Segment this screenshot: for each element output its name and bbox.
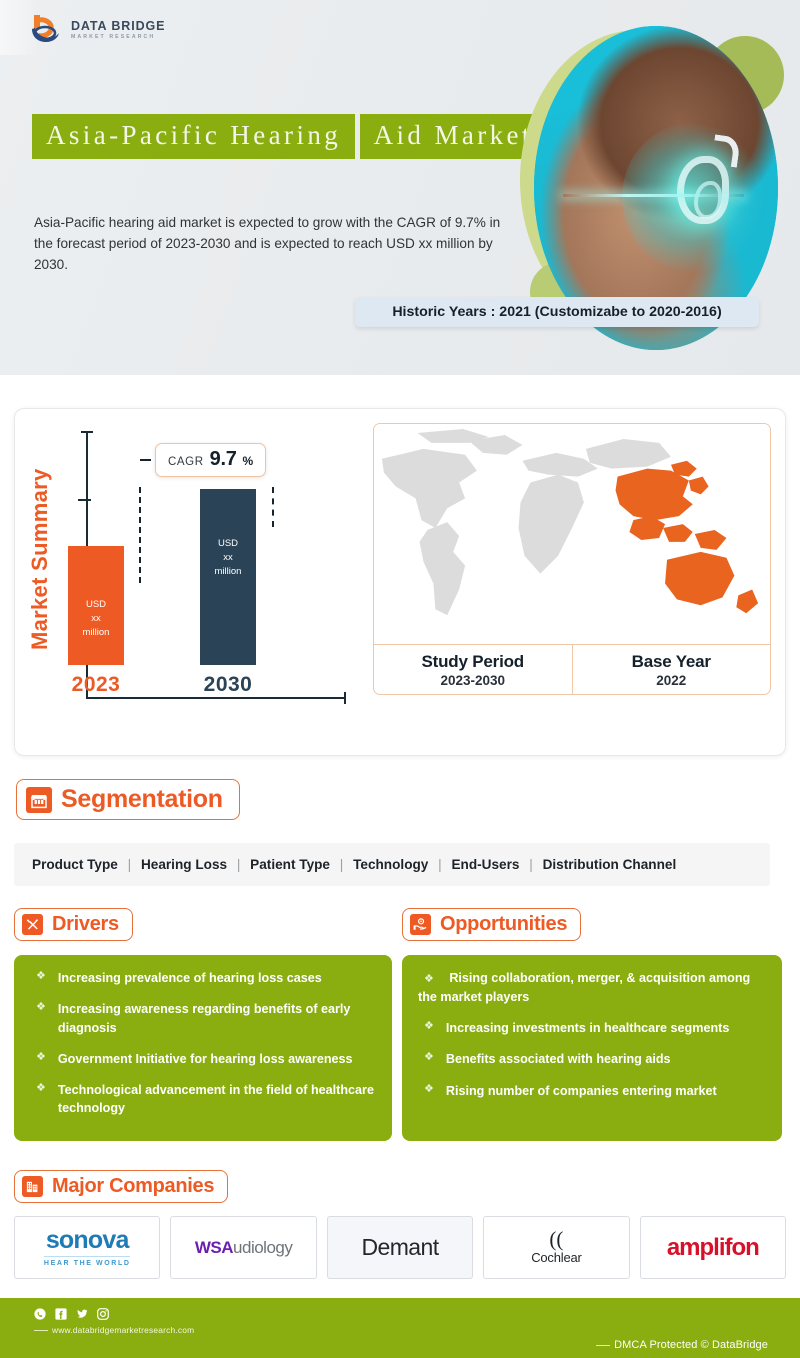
segmentation-badge-label: Segmentation bbox=[61, 785, 223, 814]
segment-separator: | bbox=[432, 857, 448, 872]
drivers-badge-inner: Drivers bbox=[14, 908, 133, 941]
page-title: Asia-Pacific Hearing Aid Market bbox=[32, 108, 547, 159]
opportunity-item-text: Benefits associated with hearing aids bbox=[446, 1050, 671, 1068]
wsaudiology-name-b: udiology bbox=[233, 1238, 292, 1257]
cagr-label: CAGR bbox=[168, 456, 204, 468]
base-year-title: Base Year bbox=[632, 652, 711, 672]
photo-ear bbox=[677, 156, 729, 224]
chart-leader-line-right bbox=[272, 487, 274, 527]
bullet-icon: ❖ bbox=[418, 1050, 434, 1066]
infographic-page: DATA BRIDGE MARKET RESEARCH Asia-Pacific… bbox=[0, 0, 800, 1358]
hand-coin-icon bbox=[410, 914, 431, 935]
storefront-icon bbox=[26, 787, 52, 813]
footer-url-row: www.databridgemarketresearch.com bbox=[34, 1325, 194, 1335]
brand-logo-text: DATA BRIDGE MARKET RESEARCH bbox=[71, 20, 165, 41]
photo-sound-wave bbox=[563, 194, 744, 197]
bullet-icon: ❖ bbox=[418, 1019, 434, 1035]
hero-description: Asia-Pacific hearing aid market is expec… bbox=[34, 212, 514, 275]
base-year-cell: Base Year 2022 bbox=[572, 645, 771, 694]
driver-item: ❖ Increasing awareness regarding benefit… bbox=[30, 1000, 376, 1037]
cochlear-name: Cochlear bbox=[531, 1250, 581, 1265]
brand-logo[interactable]: DATA BRIDGE MARKET RESEARCH bbox=[26, 11, 165, 49]
market-summary-card: Market Summary USD xx million 2023 USD bbox=[14, 408, 786, 756]
map-highlight-asia-pacific bbox=[616, 461, 759, 613]
footer-url[interactable]: www.databridgemarketresearch.com bbox=[52, 1325, 194, 1335]
segment-separator: | bbox=[231, 857, 247, 872]
segmentation-badge: Segmentation bbox=[16, 779, 240, 820]
segment-item-4: End-Users bbox=[451, 857, 519, 872]
footer-social-icons bbox=[34, 1307, 194, 1319]
segment-separator: | bbox=[523, 857, 539, 872]
chart-x-axis bbox=[86, 697, 346, 699]
major-companies-badge-label: Major Companies bbox=[52, 1175, 214, 1198]
segment-item-0: Product Type bbox=[32, 857, 118, 872]
bullet-icon: ❖ bbox=[30, 1081, 46, 1097]
study-period-title: Study Period bbox=[422, 652, 524, 672]
chart-bar-2030-rect: USD xx million bbox=[200, 489, 256, 665]
segment-item-2: Patient Type bbox=[250, 857, 330, 872]
bar-2023-label-3: million bbox=[83, 627, 110, 638]
company-logo-amplifon[interactable]: amplifon bbox=[640, 1216, 786, 1279]
brand-name: DATA BRIDGE bbox=[71, 20, 165, 33]
chart-y-axis-cap bbox=[81, 431, 93, 433]
opportunity-item-text: Rising collaboration, merger, & acquisit… bbox=[418, 971, 750, 1004]
chart-bar-2030-year: 2030 bbox=[204, 673, 253, 697]
opportunities-list: ❖ Rising collaboration, merger, & acquis… bbox=[402, 955, 782, 1141]
chart-y-axis-label: Market Summary bbox=[27, 427, 53, 692]
building-icon bbox=[22, 1176, 43, 1197]
company-logo-demant[interactable]: Demant bbox=[327, 1216, 473, 1279]
chart-bar-2023-rect: USD xx million bbox=[68, 546, 124, 665]
opportunity-item: ❖ Increasing investments in healthcare s… bbox=[418, 1019, 766, 1037]
bar-2030-label-2: xx bbox=[223, 552, 233, 563]
wsaudiology-name-a: WSA bbox=[195, 1238, 233, 1257]
segment-separator: | bbox=[122, 857, 138, 872]
company-logo-wsaudiology[interactable]: WSAudiology bbox=[170, 1216, 316, 1279]
driver-item-text: Increasing prevalence of hearing loss ca… bbox=[58, 969, 322, 987]
tools-icon bbox=[22, 914, 43, 935]
segmentation-badge-inner: Segmentation bbox=[16, 779, 240, 820]
footer-copyright: DMCA Protected © DataBridge bbox=[614, 1339, 768, 1351]
opportunity-item: ❖ Rising number of companies entering ma… bbox=[418, 1082, 766, 1100]
drivers-badge: Drivers bbox=[14, 908, 133, 941]
chart-x-axis-cap bbox=[344, 692, 346, 704]
footer-left: www.databridgemarketresearch.com bbox=[34, 1307, 194, 1335]
segment-separator: | bbox=[334, 857, 350, 872]
opportunities-badge-label: Opportunities bbox=[440, 913, 567, 936]
driver-item: ❖ Technological advancement in the field… bbox=[30, 1081, 376, 1118]
page-footer: www.databridgemarketresearch.com DMCA Pr… bbox=[0, 1298, 800, 1358]
phone-icon[interactable] bbox=[34, 1307, 46, 1319]
drivers-badge-label: Drivers bbox=[52, 913, 119, 936]
bullet-icon: ❖ bbox=[418, 973, 445, 985]
cagr-unit: % bbox=[243, 454, 254, 468]
databridge-logo-icon bbox=[26, 11, 64, 49]
opportunities-badge-inner: Opportunities bbox=[402, 908, 581, 941]
cagr-badge: CAGR 9.7 % bbox=[155, 443, 266, 477]
segment-item-5: Distribution Channel bbox=[543, 857, 677, 872]
cagr-tick-left bbox=[140, 459, 151, 461]
study-period-value: 2023-2030 bbox=[440, 673, 505, 688]
bullet-icon: ❖ bbox=[418, 1082, 434, 1098]
historic-years-bar: Historic Years : 2021 (Customizabe to 20… bbox=[355, 297, 759, 327]
opportunity-item: ❖ Rising collaboration, merger, & acquis… bbox=[418, 969, 766, 1006]
bar-2023-label-1: USD bbox=[86, 599, 106, 610]
sonova-name: sonova bbox=[46, 1228, 129, 1253]
twitter-icon[interactable] bbox=[76, 1307, 88, 1319]
segment-item-1: Hearing Loss bbox=[141, 857, 227, 872]
driver-item-text: Increasing awareness regarding benefits … bbox=[58, 1000, 376, 1037]
segment-item-3: Technology bbox=[353, 857, 428, 872]
footer-dash-right bbox=[596, 1345, 610, 1346]
footer-dash bbox=[34, 1330, 48, 1331]
region-map-panel: Study Period 2023-2030 Base Year 2022 bbox=[373, 423, 771, 695]
sonova-tagline: HEAR THE WORLD bbox=[44, 1256, 131, 1267]
chart-bar-2023: USD xx million 2023 bbox=[68, 546, 124, 697]
driver-item-text: Technological advancement in the field o… bbox=[58, 1081, 376, 1118]
footer-copyright-row: DMCA Protected © DataBridge bbox=[596, 1339, 768, 1351]
chart-bar-2030: USD xx million 2030 bbox=[200, 489, 256, 697]
chart-bar-2023-year: 2023 bbox=[72, 673, 121, 697]
chart-leader-line-left bbox=[139, 487, 141, 583]
chart-tick-1 bbox=[78, 499, 91, 501]
driver-item: ❖ Government Initiative for hearing loss… bbox=[30, 1050, 376, 1068]
cagr-value: 9.7 bbox=[210, 448, 237, 471]
opportunities-badge: Opportunities bbox=[402, 908, 581, 941]
study-info-table: Study Period 2023-2030 Base Year 2022 bbox=[374, 644, 770, 694]
bullet-icon: ❖ bbox=[30, 969, 46, 985]
bar-2023-label-2: xx bbox=[91, 613, 101, 624]
opportunity-item-text: Rising number of companies entering mark… bbox=[446, 1082, 717, 1100]
cochlear-mark-icon: (( bbox=[549, 1230, 563, 1249]
segmentation-items-bar: Product Type | Hearing Loss | Patient Ty… bbox=[14, 843, 770, 886]
bullet-icon: ❖ bbox=[30, 1000, 46, 1016]
base-year-value: 2022 bbox=[656, 673, 686, 688]
world-map-svg bbox=[374, 424, 770, 644]
world-map bbox=[374, 424, 770, 644]
bar-2030-label-3: million bbox=[215, 566, 242, 577]
map-base-continents bbox=[382, 429, 671, 615]
instagram-icon[interactable] bbox=[97, 1307, 109, 1319]
demant-name: Demant bbox=[362, 1234, 439, 1261]
company-logos: sonova HEAR THE WORLD WSAudiology Demant… bbox=[14, 1216, 786, 1279]
wsaudiology-name: WSAudiology bbox=[195, 1238, 293, 1258]
bullet-icon: ❖ bbox=[30, 1050, 46, 1066]
brand-tagline: MARKET RESEARCH bbox=[71, 35, 165, 40]
driver-item: ❖ Increasing prevalence of hearing loss … bbox=[30, 969, 376, 987]
major-companies-badge-inner: Major Companies bbox=[14, 1170, 228, 1203]
opportunity-item: ❖ Benefits associated with hearing aids bbox=[418, 1050, 766, 1068]
bar-2030-label-1: USD bbox=[218, 538, 238, 549]
major-companies-badge: Major Companies bbox=[14, 1170, 228, 1203]
drivers-list: ❖ Increasing prevalence of hearing loss … bbox=[14, 955, 392, 1141]
amplifon-name: amplifon bbox=[667, 1234, 759, 1262]
company-logo-cochlear[interactable]: (( Cochlear bbox=[483, 1216, 629, 1279]
facebook-icon[interactable] bbox=[55, 1307, 67, 1319]
driver-item-text: Government Initiative for hearing loss a… bbox=[58, 1050, 353, 1068]
opportunity-item-text: Increasing investments in healthcare seg… bbox=[446, 1019, 729, 1037]
title-line-1: Asia-Pacific Hearing bbox=[32, 114, 355, 159]
study-period-cell: Study Period 2023-2030 bbox=[374, 645, 572, 694]
company-logo-sonova[interactable]: sonova HEAR THE WORLD bbox=[14, 1216, 160, 1279]
